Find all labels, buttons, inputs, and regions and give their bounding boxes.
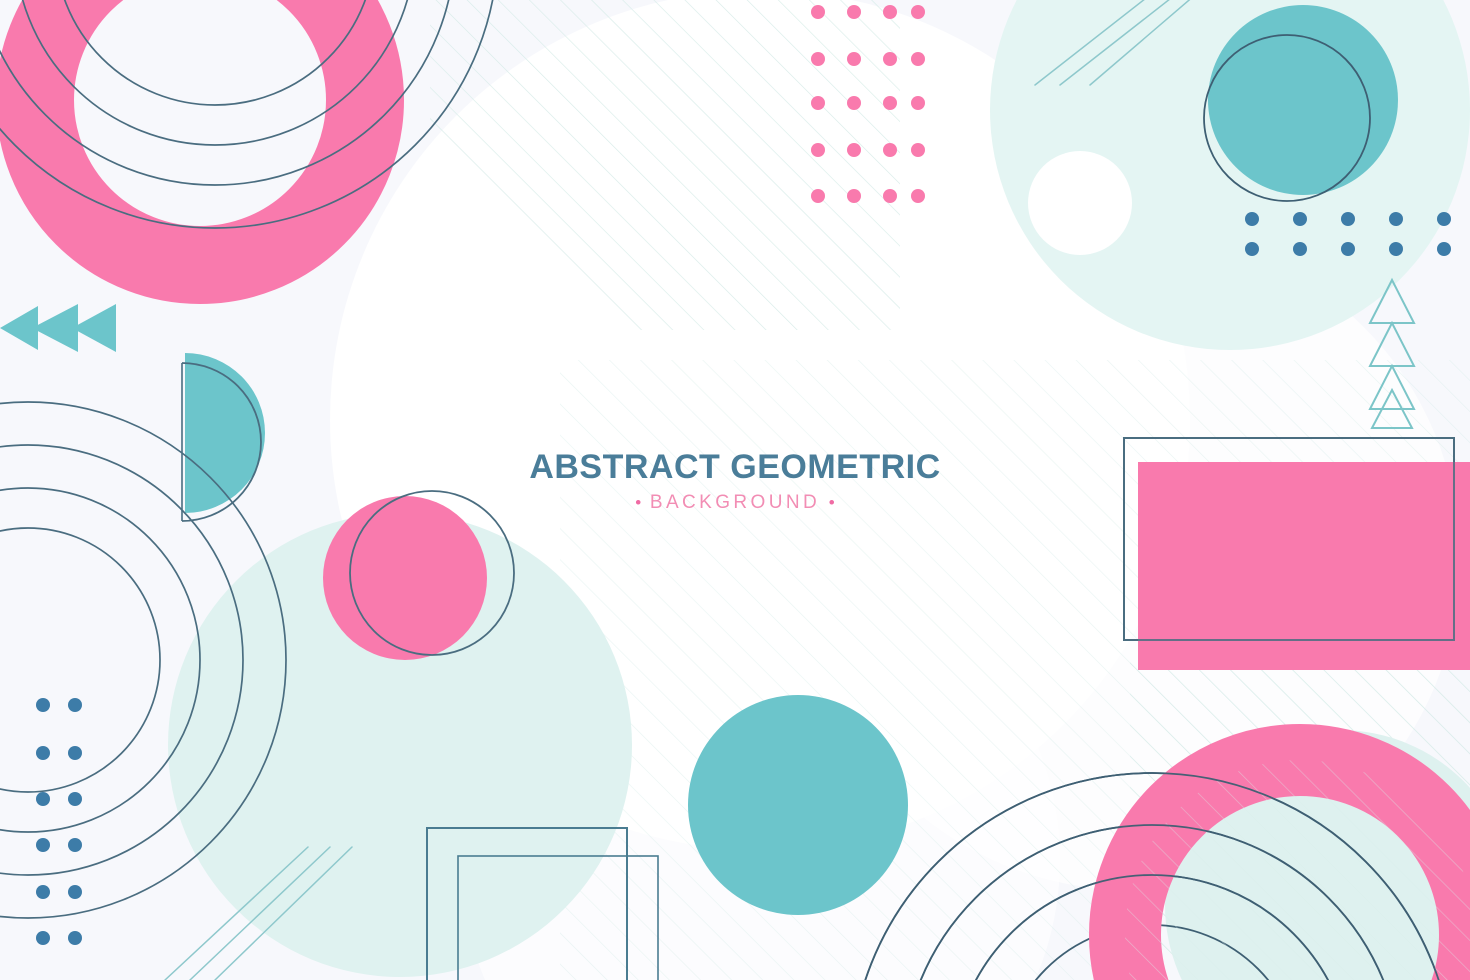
pink-rect-filled-right <box>1138 462 1470 670</box>
white-circle-top-right <box>1028 151 1132 255</box>
abstract-geometric-background: ABSTRACT GEOMETRIC • BACKGROUND • <box>0 0 1470 980</box>
pink-circle-center <box>323 496 487 660</box>
background-artwork <box>0 0 1470 980</box>
teal-circle-top-right <box>1208 5 1398 195</box>
teal-circle-bottom-center <box>688 695 908 915</box>
